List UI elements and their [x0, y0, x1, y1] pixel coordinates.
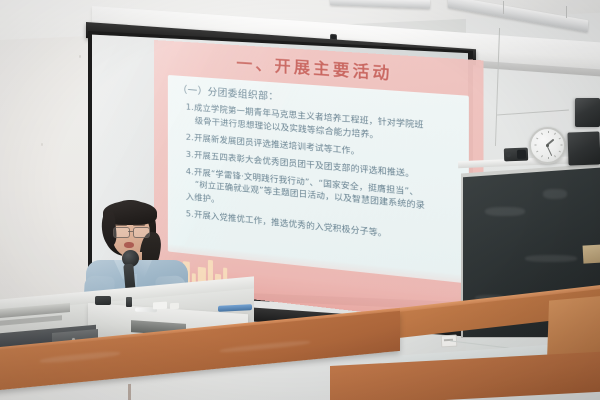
white-object-small: [170, 303, 179, 309]
eyebrow: [115, 224, 127, 226]
shelf-box: [583, 244, 600, 263]
desk-seam: [128, 384, 131, 400]
item-number: 3.: [186, 148, 194, 159]
wall-mark: [79, 55, 81, 58]
item-number: 1.: [186, 101, 194, 112]
student-desk: [547, 295, 600, 361]
wall-speaker: [575, 98, 600, 127]
mouth: [124, 242, 134, 248]
wall-speaker: [567, 131, 600, 165]
light-hanger: [503, 1, 504, 14]
microphone-base: [126, 297, 132, 307]
wall-mark: [41, 143, 43, 146]
white-object: [153, 302, 167, 310]
dark-device: [95, 296, 111, 305]
light-hanger: [566, 6, 567, 18]
classroom-photo: 一、开展主要活动 （一）分团委组织部： 1.成立学院第一期青年马克思主义者培养工…: [0, 0, 600, 400]
ledge-camera-icon: [504, 148, 528, 162]
item-number: 4.: [186, 165, 194, 176]
slide-bullet-list: 1.成立学院第一期青年马克思主义者培养工程班，针对学院班 级骨干进行思想理论以及…: [186, 100, 460, 251]
wall-clock: [529, 127, 566, 164]
glasses-icon: [112, 227, 150, 236]
eyebrow: [133, 224, 145, 226]
item-number: 2.: [186, 131, 194, 142]
